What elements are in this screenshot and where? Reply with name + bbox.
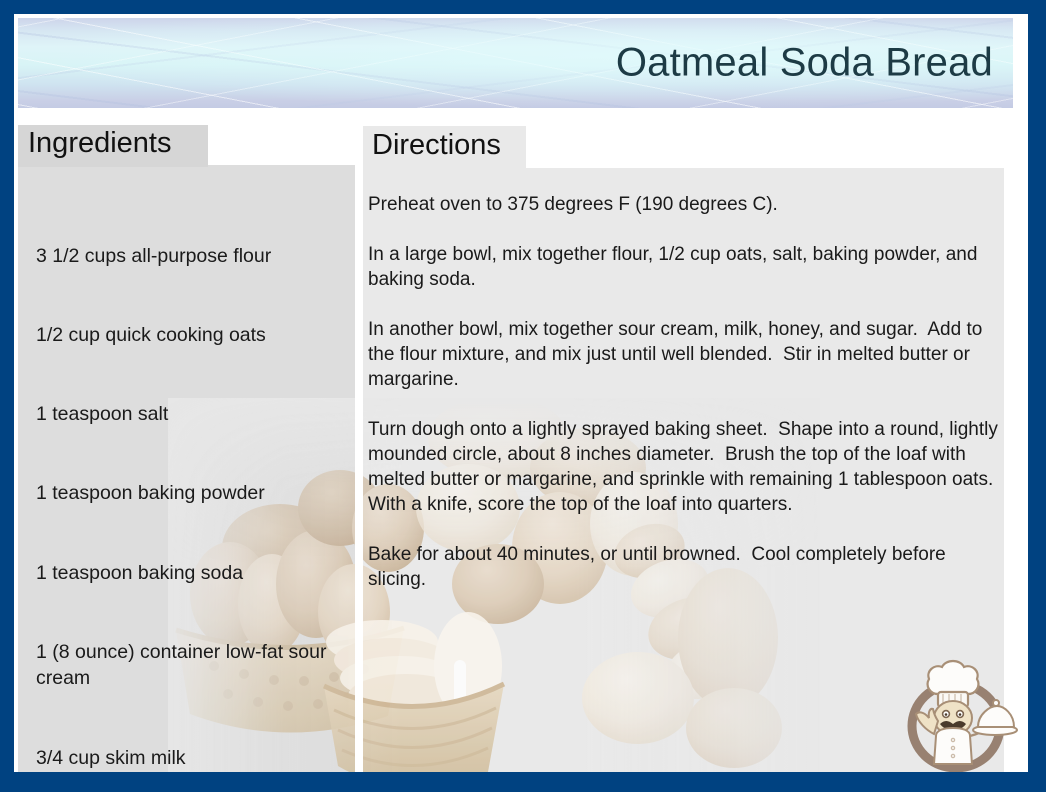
directions-tab-label: Directions	[372, 128, 501, 162]
ingredients-tab: Ingredients	[18, 125, 208, 167]
recipe-card-slide: Oatmeal Soda Bread Ingredients Direction…	[0, 0, 1046, 792]
page-title: Oatmeal Soda Bread	[616, 41, 993, 86]
direction-step: Bake for about 40 minutes, or until brow…	[368, 542, 1008, 592]
frame-border-right	[1028, 0, 1046, 792]
ingredient-item: 3 1/2 cups all-purpose flour	[36, 243, 346, 269]
frame-border-top	[0, 0, 1046, 14]
direction-step: In another bowl, mix together sour cream…	[368, 317, 1008, 392]
ingredient-item: 1 teaspoon baking soda	[36, 560, 346, 586]
frame-border-left	[0, 0, 14, 792]
ingredient-item: 1 (8 ounce) container low-fat sour cream	[36, 639, 346, 692]
direction-step: Turn dough onto a lightly sprayed baking…	[368, 417, 1008, 517]
directions-tab: Directions	[363, 126, 526, 170]
direction-step: In a large bowl, mix together flour, 1/2…	[368, 242, 1008, 292]
ingredient-item: 1/2 cup quick cooking oats	[36, 322, 346, 348]
ingredient-item: 3/4 cup skim milk	[36, 745, 346, 771]
ingredients-list: 3 1/2 cups all-purpose flour 1/2 cup qui…	[36, 190, 346, 792]
ingredients-tab-label: Ingredients	[28, 126, 172, 160]
chef-with-serving-tray-logo	[898, 648, 1018, 778]
ingredient-item: 1 teaspoon baking powder	[36, 480, 346, 506]
ingredient-item: 1 teaspoon salt	[36, 401, 346, 427]
directions-steps: Preheat oven to 375 degrees F (190 degre…	[368, 192, 1008, 592]
chef-logo-illustration	[898, 648, 1018, 778]
frame-border-bottom	[0, 772, 1046, 792]
direction-step: Preheat oven to 375 degrees F (190 degre…	[368, 192, 1008, 217]
title-banner: Oatmeal Soda Bread	[18, 18, 1013, 108]
